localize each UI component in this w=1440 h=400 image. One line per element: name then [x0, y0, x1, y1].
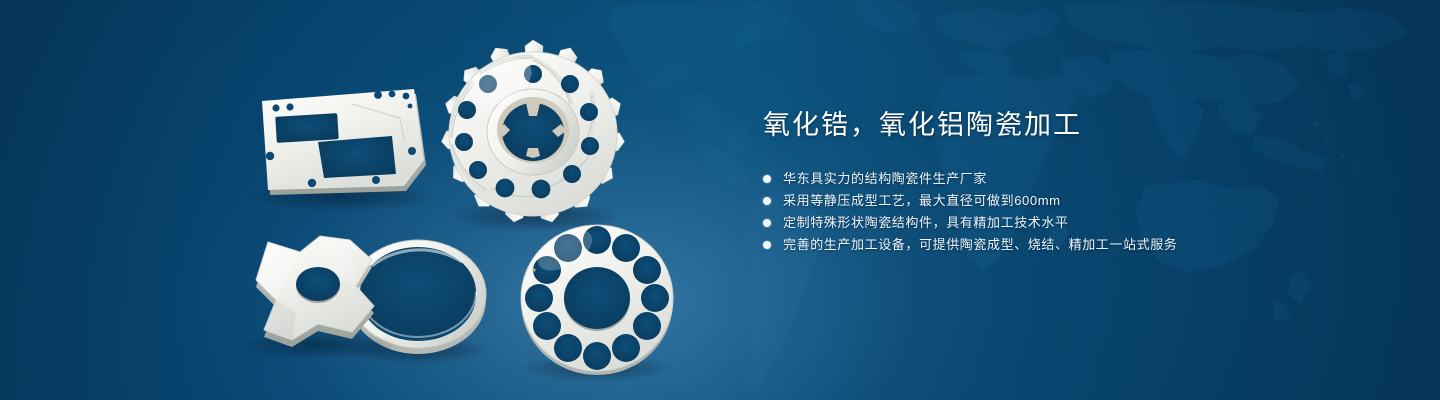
page-title: 氧化锆，氧化铝陶瓷加工 [763, 108, 1383, 142]
list-item: 华东具实力的结构陶瓷件生产厂家 [763, 168, 1383, 190]
ceramic-perforated-disc-photo [521, 221, 673, 382]
bullet-dot-icon [763, 241, 771, 249]
feature-list: 华东具实力的结构陶瓷件生产厂家 采用等静压成型工艺，最大直径可做到600mm 定… [763, 168, 1383, 256]
bullet-dot-icon [763, 175, 771, 183]
list-item: 定制特殊形状陶瓷结构件，具有精加工技术水平 [763, 212, 1383, 234]
ceramic-mounting-plate-photo [244, 89, 436, 212]
list-item-label: 采用等静压成型工艺，最大直径可做到600mm [783, 190, 1061, 212]
ceramic-impeller-disc-photo [440, 40, 625, 232]
list-item-label: 定制特殊形状陶瓷结构件，具有精加工技术水平 [783, 212, 1069, 234]
bullet-dot-icon [763, 219, 771, 227]
list-item-label: 完善的生产加工设备，可提供陶瓷成型、烧结、精加工一站式服务 [783, 234, 1177, 256]
product-photo-cluster [0, 0, 740, 400]
list-item: 完善的生产加工设备，可提供陶瓷成型、烧结、精加工一站式服务 [763, 234, 1383, 256]
hero-banner: 氧化锆，氧化铝陶瓷加工 华东具实力的结构陶瓷件生产厂家 采用等静压成型工艺，最大… [0, 0, 1440, 400]
bullet-dot-icon [763, 197, 771, 205]
list-item: 采用等静压成型工艺，最大直径可做到600mm [763, 190, 1383, 212]
hero-copy: 氧化锆，氧化铝陶瓷加工 华东具实力的结构陶瓷件生产厂家 采用等静压成型工艺，最大… [763, 108, 1383, 256]
list-item-label: 华东具实力的结构陶瓷件生产厂家 [783, 168, 987, 190]
